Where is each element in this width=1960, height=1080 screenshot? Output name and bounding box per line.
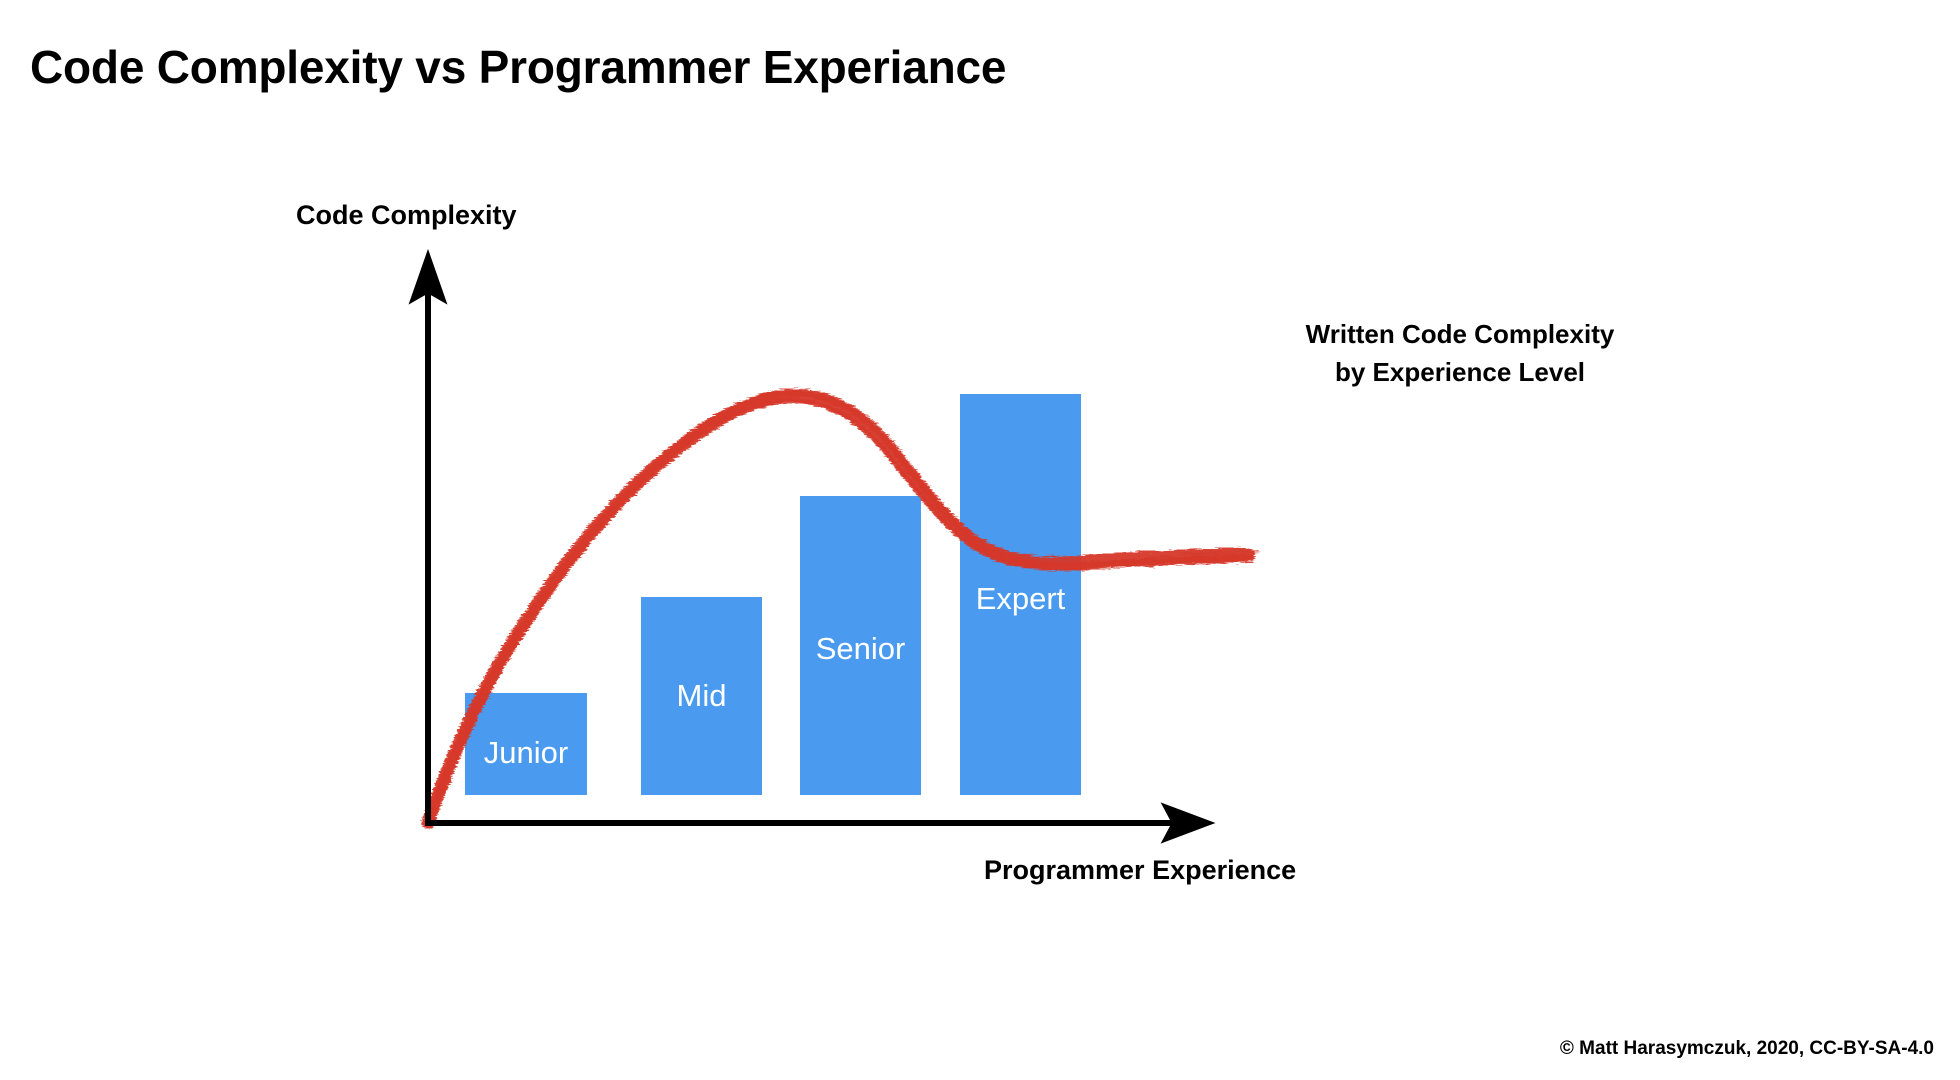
bar-group bbox=[465, 394, 1081, 795]
bar-senior[interactable] bbox=[800, 496, 921, 795]
bar-mid[interactable] bbox=[641, 597, 762, 795]
x-axis-arrowhead bbox=[1167, 808, 1207, 838]
slide-canvas: Code Complexity vs Programmer Experiance… bbox=[0, 0, 1960, 1080]
bar-junior[interactable] bbox=[465, 693, 587, 795]
chart-plot-area: Junior Mid Senior Expert bbox=[0, 0, 1960, 1080]
bar-expert[interactable] bbox=[960, 394, 1081, 795]
y-axis-arrowhead bbox=[414, 258, 442, 298]
